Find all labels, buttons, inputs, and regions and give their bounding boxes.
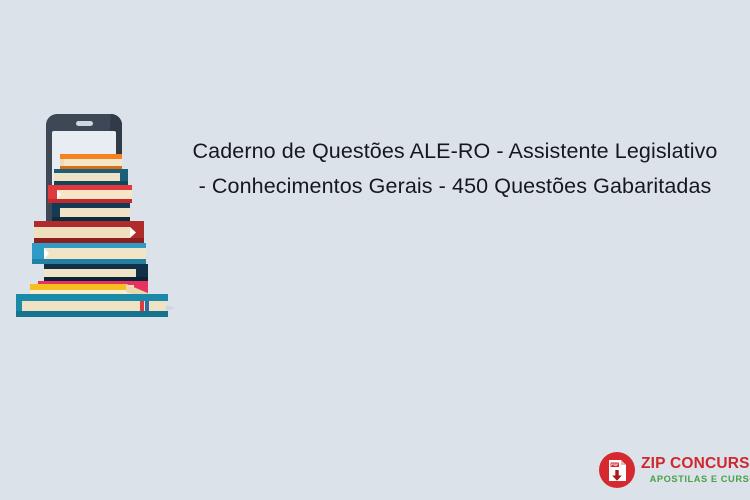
books-illustration [8, 112, 184, 322]
zip-concursos-logo[interactable]: PDF ZIP CONCURSOS APOSTILAS E CURSOS [598, 450, 744, 490]
brand-wordmark: ZIP CONCURSOS APOSTILAS E CURSOS [641, 456, 750, 484]
book-navy-fourth [52, 203, 130, 221]
product-title-block: Caderno de Questões ALE-RO - Assistente … [186, 134, 724, 204]
brand-subtitle: APOSTILAS E CURSOS [641, 475, 750, 484]
book-navy-seventh [44, 264, 148, 281]
book-darkred-fifth [34, 221, 144, 243]
book-teal-second [54, 169, 128, 185]
book-teal-base [16, 294, 168, 317]
product-banner: Caderno de Questões ALE-RO - Assistente … [0, 0, 750, 500]
svg-text:PDF: PDF [611, 463, 619, 467]
book-red-third [48, 185, 132, 203]
pdf-download-icon: PDF [598, 451, 636, 489]
product-title: Caderno de Questões ALE-RO - Assistente … [186, 134, 724, 204]
brand-title: ZIP CONCURSOS [641, 456, 750, 472]
book-blue-sixth [32, 243, 146, 264]
book-orange-top [60, 154, 122, 169]
